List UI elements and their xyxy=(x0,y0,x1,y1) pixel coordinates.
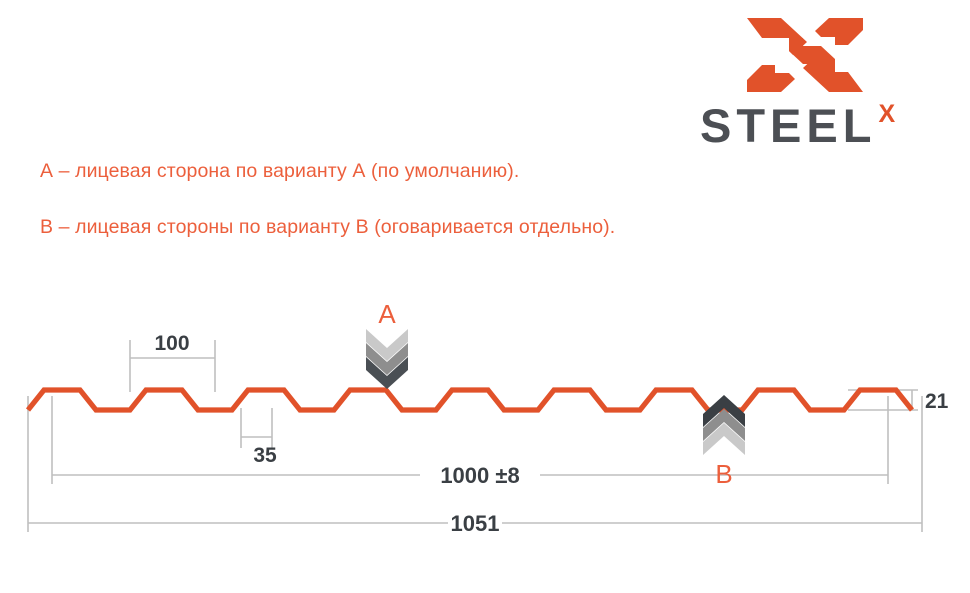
corrugated-profile-path xyxy=(28,390,912,410)
dim-label-pitch: 100 xyxy=(154,332,189,355)
side-b-chevrons-icon xyxy=(703,395,745,455)
dim-label-overall-width: 1051 xyxy=(451,511,500,536)
side-a-chevrons-icon xyxy=(366,329,408,389)
dim-label-profile-height: 21 xyxy=(925,390,949,413)
dimension-lines-group xyxy=(28,340,922,532)
side-a-marker: А xyxy=(366,299,408,389)
profile-technical-drawing: 100 35 1000 ±8 1051 21 А В xyxy=(0,0,970,593)
dim-label-valley-width: 35 xyxy=(253,444,277,467)
side-b-marker-label: В xyxy=(715,459,732,489)
drawing-canvas: STEEL X А – лицевая сторона по варианту … xyxy=(0,0,970,593)
side-a-marker-label: А xyxy=(378,299,396,329)
dim-label-working-width: 1000 ±8 xyxy=(440,463,519,488)
